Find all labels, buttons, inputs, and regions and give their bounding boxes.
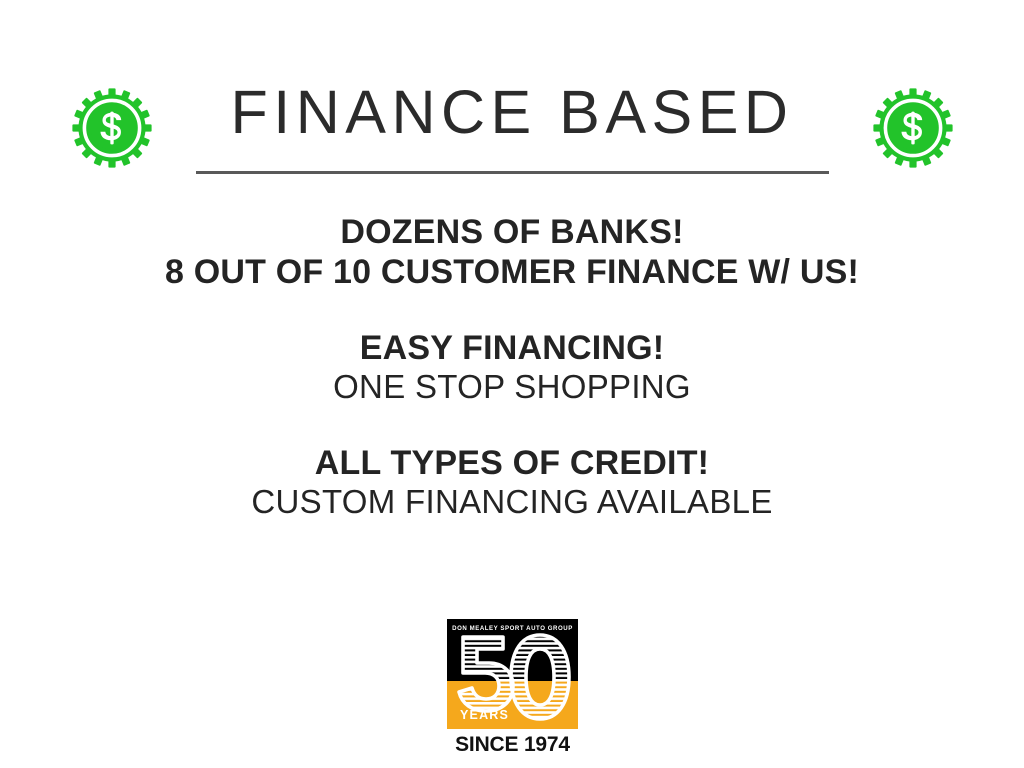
copy-subline: CUSTOM FINANCING AVAILABLE bbox=[0, 483, 1024, 522]
title-group: FINANCE BASED bbox=[196, 82, 829, 174]
marketing-copy: DOZENS OF BANKS! 8 OUT OF 10 CUSTOMER FI… bbox=[0, 212, 1024, 522]
copy-headline: ALL TYPES OF CREDIT! bbox=[0, 443, 1024, 483]
title-divider bbox=[196, 171, 829, 174]
money-gear-icon bbox=[72, 88, 152, 168]
copy-subline: 8 OUT OF 10 CUSTOMER FINANCE W/ US! bbox=[0, 252, 1024, 292]
header-row: FINANCE BASED bbox=[0, 80, 1024, 176]
copy-block: DOZENS OF BANKS! 8 OUT OF 10 CUSTOMER FI… bbox=[0, 212, 1024, 292]
copy-block: EASY FINANCING! ONE STOP SHOPPING bbox=[0, 328, 1024, 407]
page-header: FINANCE BASED bbox=[0, 0, 1024, 190]
page-title: FINANCE BASED bbox=[213, 82, 812, 143]
copy-headline: DOZENS OF BANKS! bbox=[0, 212, 1024, 252]
logo-years-label: YEARS bbox=[460, 708, 509, 722]
logo-since-text: SINCE 1974 bbox=[447, 733, 578, 757]
logo-group-name: DON MEALEY SPORT AUTO GROUP bbox=[447, 625, 578, 632]
copy-block: ALL TYPES OF CREDIT! CUSTOM FINANCING AV… bbox=[0, 443, 1024, 522]
money-gear-icon bbox=[873, 88, 953, 168]
copy-subline: ONE STOP SHOPPING bbox=[0, 368, 1024, 407]
dealer-logo: DON MEALEY SPORT AUTO GROUP bbox=[447, 619, 578, 757]
copy-headline: EASY FINANCING! bbox=[0, 328, 1024, 368]
logo-badge: DON MEALEY SPORT AUTO GROUP bbox=[447, 619, 578, 729]
